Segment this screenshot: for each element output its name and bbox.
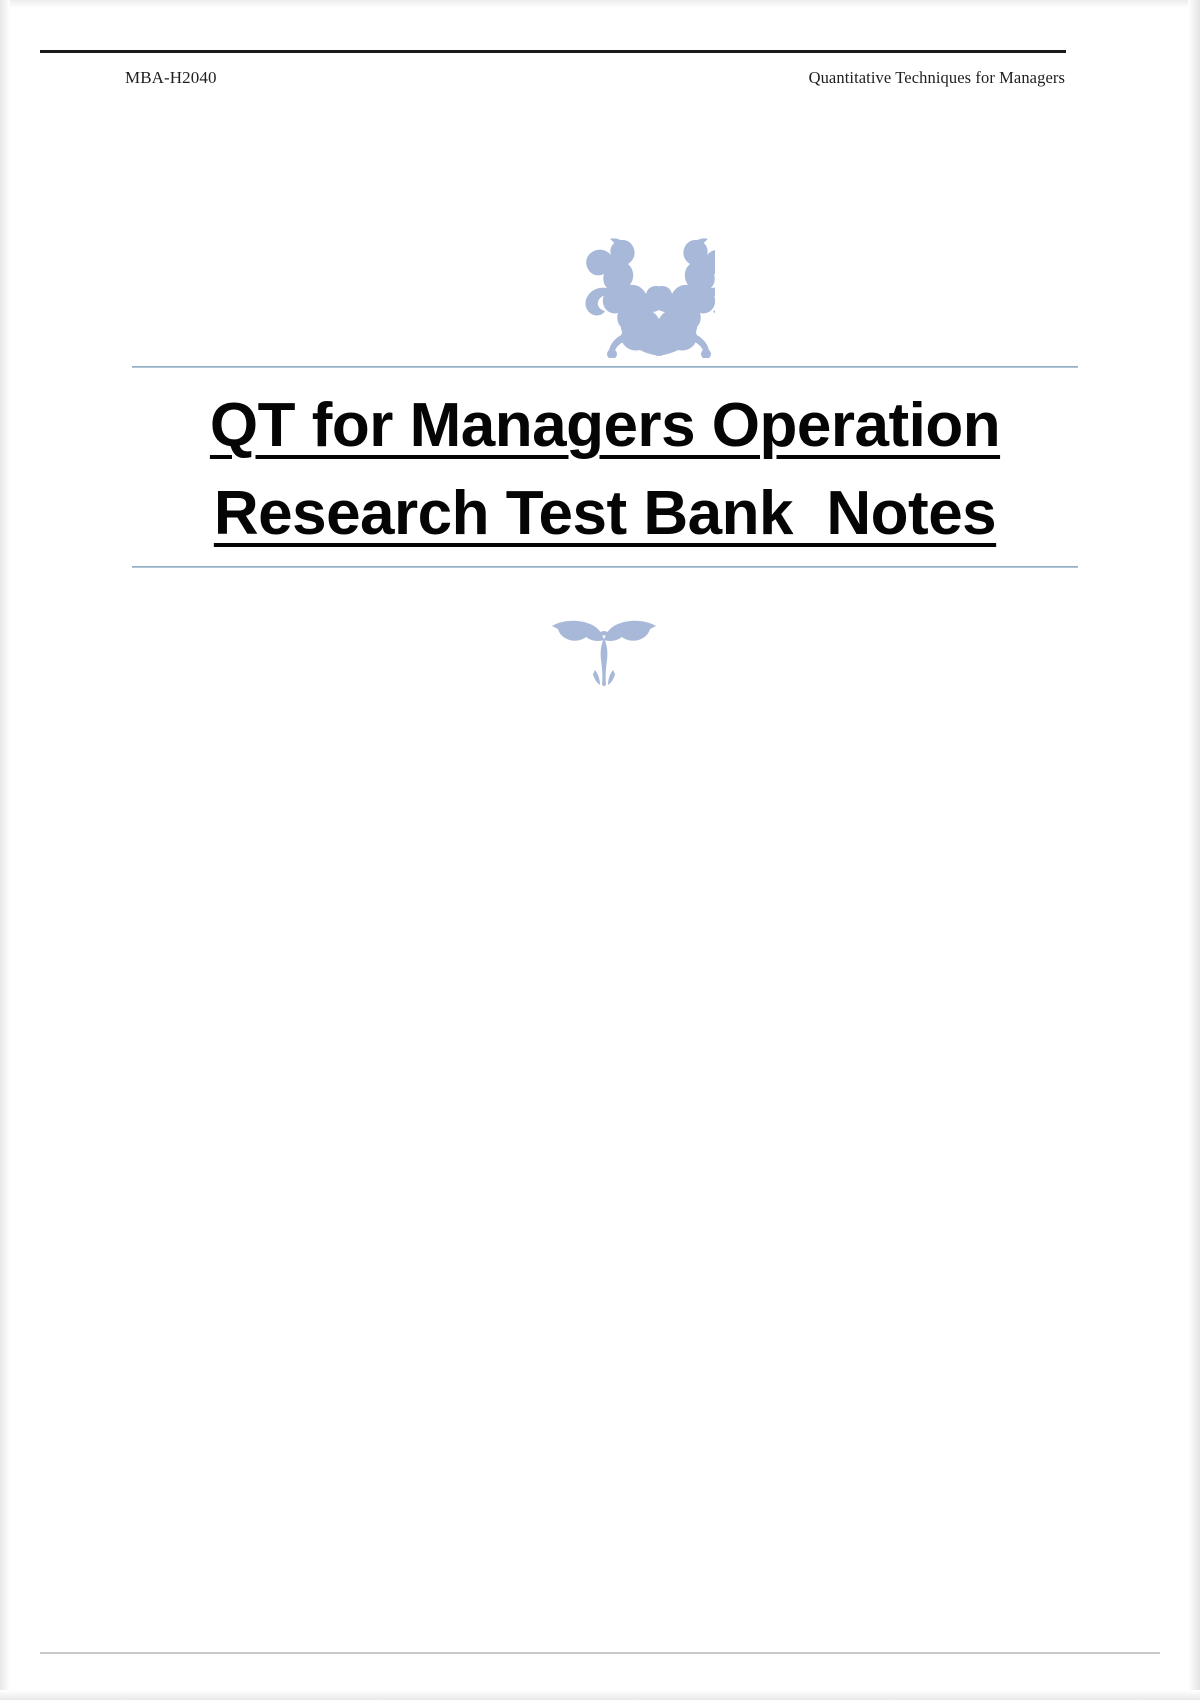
page-edge-bottom xyxy=(0,1690,1200,1700)
page-title: QT for Managers Operation Research Test … xyxy=(132,382,1078,558)
header-divider-rule xyxy=(40,50,1066,53)
document-page: MBA-H2040 Quantitative Techniques for Ma… xyxy=(0,0,1200,1700)
footer-divider-rule xyxy=(40,1652,1160,1654)
floral-flourish-ornament xyxy=(490,228,715,358)
page-edge-right xyxy=(1188,0,1200,1700)
page-edge-left xyxy=(0,0,10,1700)
page-title-line-2: Research Test Bank Notes xyxy=(132,470,1078,558)
page-title-line-1-text: QT for Managers Operation xyxy=(210,391,1000,460)
page-title-line-2-text: Research Test Bank Notes xyxy=(214,479,996,548)
header-course-code: MBA-H2040 xyxy=(125,68,217,88)
header-course-title: Quantitative Techniques for Managers xyxy=(809,68,1065,88)
leaf-trefoil-ornament xyxy=(548,608,660,688)
page-edge-top xyxy=(0,0,1200,8)
page-title-line-1: QT for Managers Operation xyxy=(132,382,1078,470)
page-body-blank xyxy=(125,700,1065,1640)
title-top-rule xyxy=(132,366,1078,368)
title-bottom-rule xyxy=(132,566,1078,568)
running-header: MBA-H2040 Quantitative Techniques for Ma… xyxy=(125,68,1065,96)
